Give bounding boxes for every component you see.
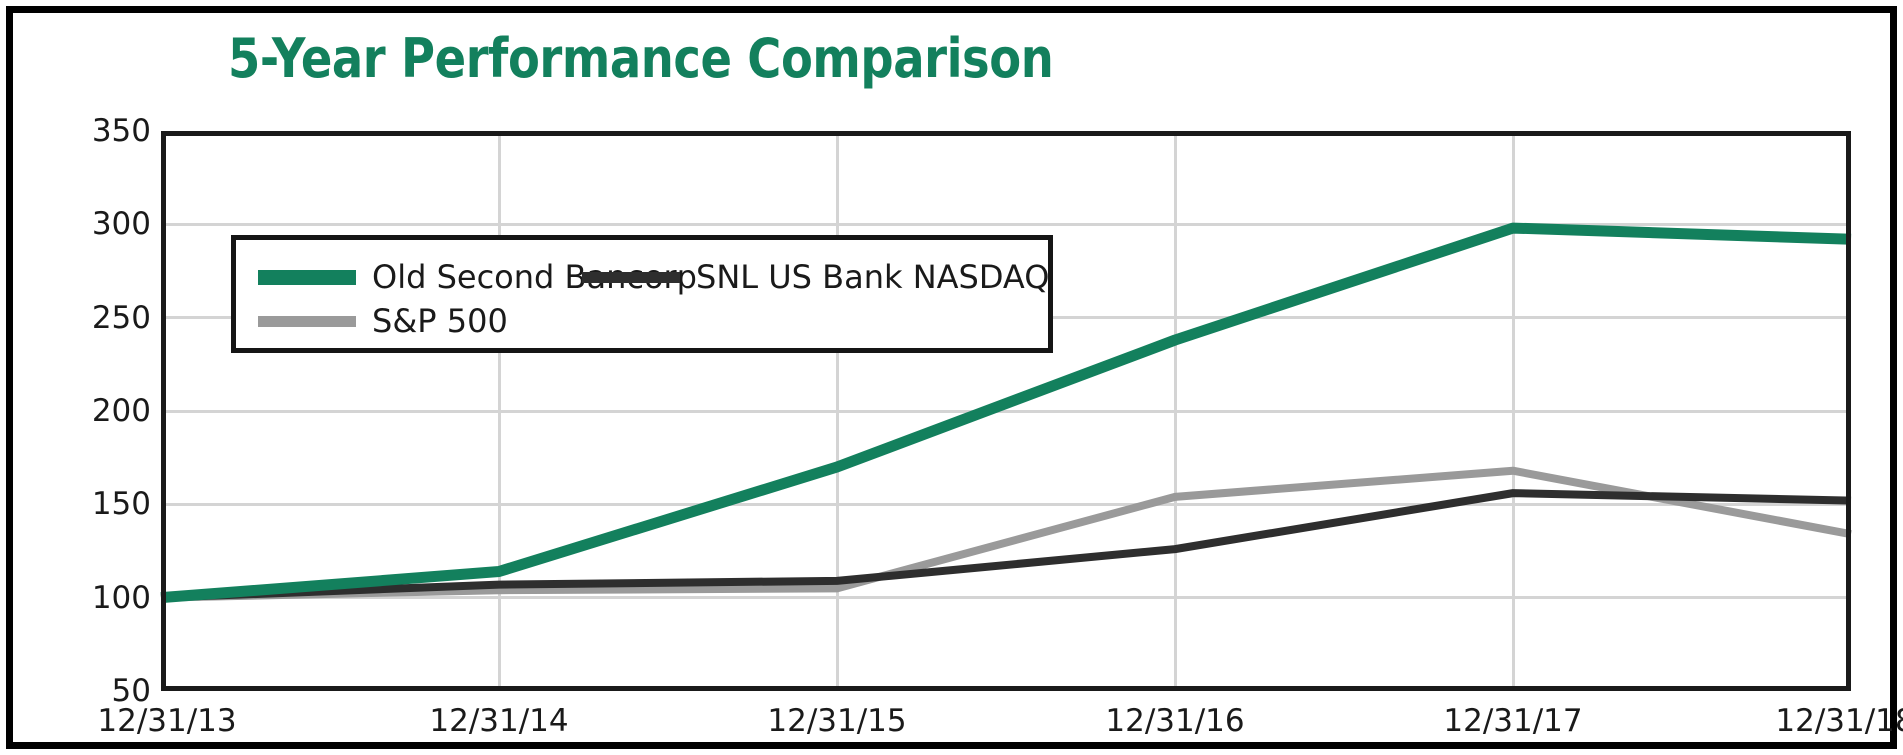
legend-item-label: SNL US Bank NASDAQ [696, 258, 1049, 296]
y-axis-tick-label: 250 [92, 300, 151, 336]
legend-color-swatch-icon [258, 316, 356, 327]
chart-legend: Old Second BancorpSNL US Bank NASDAQS&P … [231, 235, 1053, 353]
y-axis-tick-labels: 35030025020015010050 [73, 131, 151, 691]
legend-item[interactable]: S&P 500 [258, 302, 508, 340]
legend-item-label: S&P 500 [372, 302, 508, 340]
legend-color-swatch-icon [258, 270, 356, 285]
chart-outer-frame: 5-Year Performance Comparison 3503002502… [6, 6, 1897, 749]
y-axis-tick-label: 200 [92, 393, 151, 429]
chart-page: 5-Year Performance Comparison 3503002502… [0, 0, 1903, 755]
plot-border [161, 131, 1851, 691]
x-axis-tick-labels: 12/31/1312/31/1412/31/1512/31/1612/31/17… [161, 703, 1851, 743]
y-axis-tick-label: 350 [92, 113, 151, 149]
y-axis-tick-label: 150 [92, 486, 151, 522]
x-axis-tick-label: 12/31/16 [1105, 703, 1244, 739]
y-axis-tick-label: 100 [92, 580, 151, 616]
x-axis-tick-label: 12/31/15 [767, 703, 906, 739]
x-axis-tick-label: 12/31/14 [429, 703, 568, 739]
x-axis-tick-label: 12/31/18 [1775, 703, 1903, 739]
plot-area [161, 131, 1851, 691]
x-axis-tick-label: 12/31/17 [1443, 703, 1582, 739]
x-axis-tick-label: 12/31/13 [97, 703, 236, 739]
page-title: 5-Year Performance Comparison [228, 27, 1053, 90]
legend-item[interactable]: SNL US Bank NASDAQ [582, 258, 1049, 296]
legend-color-swatch-icon [582, 272, 680, 283]
y-axis-tick-label: 300 [92, 206, 151, 242]
